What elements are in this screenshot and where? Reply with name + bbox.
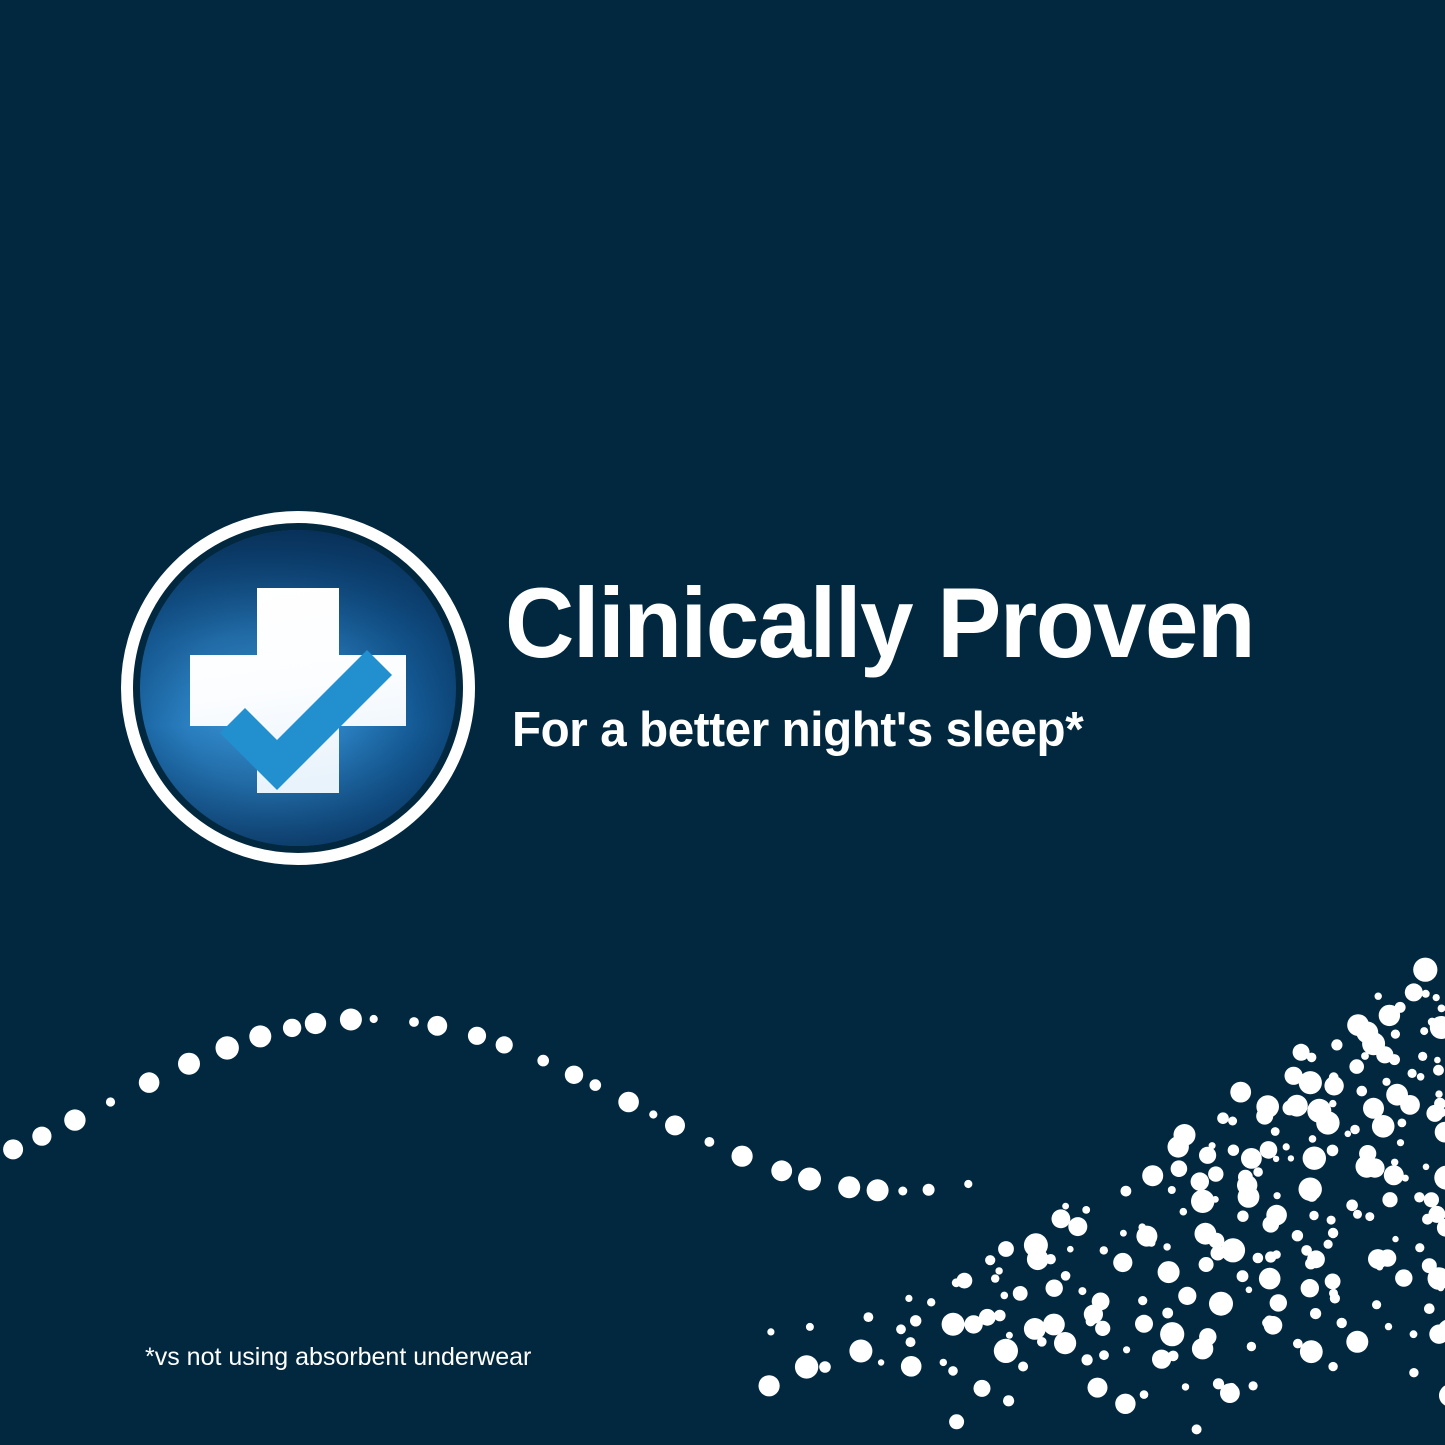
page-subtitle: For a better night's sleep* <box>512 706 1083 755</box>
clinically-proven-badge-icon <box>120 510 476 866</box>
footnote-disclaimer: *vs not using absorbent underwear <box>145 1345 531 1370</box>
promo-banner: Clinically Proven For a better night's s… <box>0 0 1445 1445</box>
page-title: Clinically Proven <box>505 573 1254 672</box>
